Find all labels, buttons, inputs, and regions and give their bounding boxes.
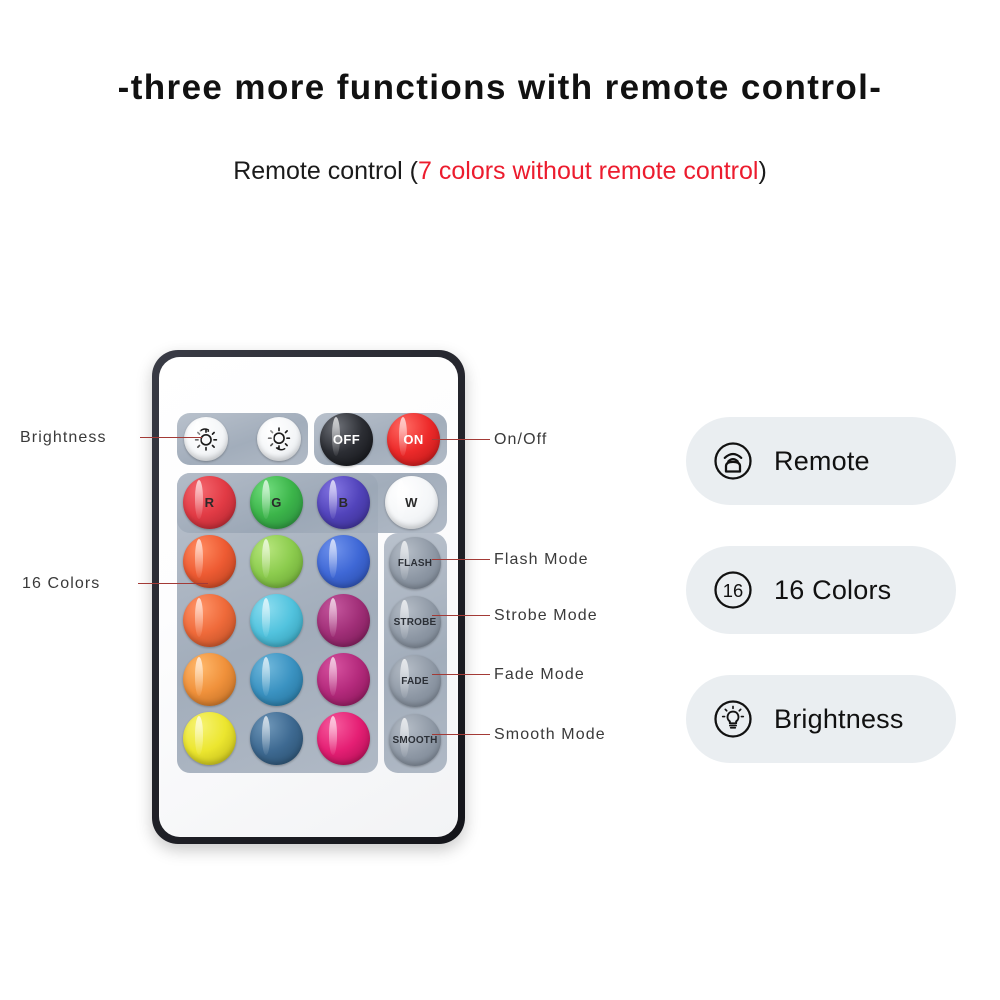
off-button[interactable]: OFF (320, 413, 373, 466)
color-button-magenta[interactable] (317, 653, 370, 706)
callout-flash-mode: Flash Mode (494, 551, 589, 569)
brightness-up-button[interactable] (184, 417, 228, 461)
strobe-mode-button[interactable]: STROBE (389, 596, 441, 648)
smooth-mode-button[interactable]: SMOOTH (389, 714, 441, 766)
sun-up-icon (193, 426, 219, 452)
feature-remote[interactable]: Remote (686, 417, 956, 505)
color-button-pink[interactable] (317, 712, 370, 765)
off-button-label: OFF (333, 432, 360, 447)
callout-16-colors-leader (138, 583, 208, 584)
sixteen-circle-icon: 16 (712, 569, 754, 611)
remote-signal-icon (712, 440, 754, 482)
lightbulb-icon (712, 698, 754, 740)
callout-brightness: Brightness (20, 429, 107, 447)
color-button-royal-blue[interactable] (317, 535, 370, 588)
color-button-green-label: G (271, 495, 282, 510)
color-button-white[interactable]: W (385, 476, 438, 529)
color-button-blue[interactable]: B (317, 476, 370, 529)
color-button-green[interactable]: G (250, 476, 303, 529)
color-button-yellow[interactable] (183, 712, 236, 765)
feature-brightness-label: Brightness (774, 704, 904, 735)
feature-16-colors[interactable]: 16 16 Colors (686, 546, 956, 634)
strobe-mode-label: STROBE (394, 617, 437, 628)
fade-mode-button[interactable]: FADE (389, 655, 441, 707)
subtitle-accent: 7 colors without remote control (418, 157, 758, 185)
callout-strobe-mode: Strobe Mode (494, 607, 598, 625)
color-button-steel-blue[interactable] (250, 653, 303, 706)
callout-on-off-leader (432, 439, 490, 440)
feature-16-colors-label: 16 Colors (774, 575, 891, 606)
feature-remote-label: Remote (774, 446, 870, 477)
svg-text:16: 16 (723, 580, 743, 601)
page-title: -three more functions with remote contro… (0, 68, 1000, 108)
on-button-label: ON (403, 432, 423, 447)
page-subtitle: Remote control (7 colors without remote … (0, 157, 1000, 186)
remote-control-device: OFF ON R G B W (152, 350, 465, 844)
color-button-orange-red[interactable] (183, 535, 236, 588)
color-button-red[interactable]: R (183, 476, 236, 529)
callout-smooth-mode: Smooth Mode (494, 726, 606, 744)
callout-flash-mode-leader (432, 559, 490, 560)
callout-strobe-mode-leader (432, 615, 490, 616)
color-button-blue-label: B (339, 495, 349, 510)
flash-mode-button[interactable]: FLASH (389, 537, 441, 589)
callout-16-colors: 16 Colors (22, 575, 100, 593)
callout-fade-mode-leader (432, 674, 490, 675)
color-button-light-green[interactable] (250, 535, 303, 588)
color-button-cyan[interactable] (250, 594, 303, 647)
color-button-red-label: R (205, 495, 215, 510)
subtitle-prefix: Remote control ( (233, 157, 418, 185)
feature-brightness[interactable]: Brightness (686, 675, 956, 763)
color-button-light-orange[interactable] (183, 653, 236, 706)
callout-on-off: On/Off (494, 431, 547, 449)
color-button-dark-blue[interactable] (250, 712, 303, 765)
callout-fade-mode: Fade Mode (494, 666, 585, 684)
smooth-mode-label: SMOOTH (392, 735, 437, 746)
sun-down-icon (266, 426, 292, 452)
callout-smooth-mode-leader (432, 734, 490, 735)
color-button-purple[interactable] (317, 594, 370, 647)
subtitle-suffix: ) (758, 157, 766, 185)
color-button-orange[interactable] (183, 594, 236, 647)
page-root: -three more functions with remote contro… (0, 0, 1000, 1000)
callout-brightness-leader (140, 437, 202, 438)
flash-mode-label: FLASH (398, 558, 432, 569)
fade-mode-label: FADE (401, 676, 428, 687)
brightness-down-button[interactable] (257, 417, 301, 461)
color-button-white-label: W (405, 495, 418, 510)
remote-face: OFF ON R G B W (159, 357, 458, 837)
